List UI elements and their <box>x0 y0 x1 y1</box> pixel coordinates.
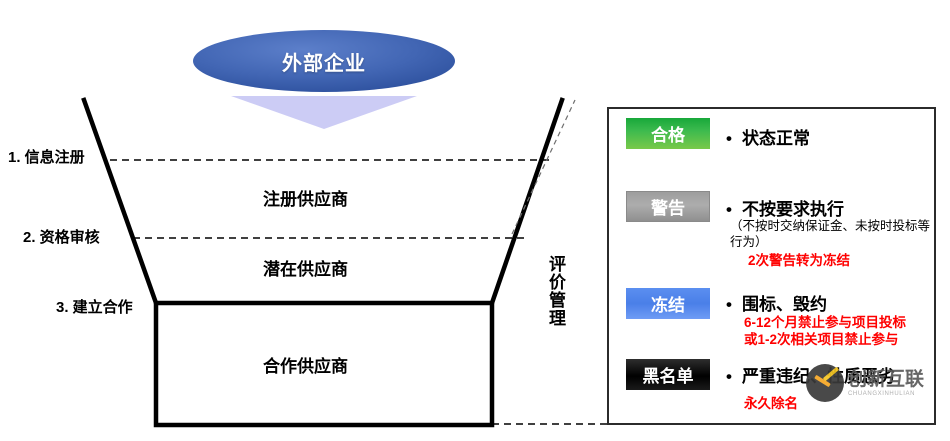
bullet-freeze: •围标、毁约 <box>726 290 827 315</box>
bullet-dot-icon: • <box>726 200 742 220</box>
bullet-text-pass: 状态正常 <box>742 129 810 148</box>
watermark-brand: 创新互联 <box>848 370 924 389</box>
watermark-text: 创新互联 CHUANGXINHULIAN <box>848 370 924 397</box>
bullet-dot-icon: • <box>726 295 742 315</box>
step-label-cooperation: 3. 建立合作 <box>56 296 133 317</box>
bullet-text-freeze: 围标、毁约 <box>742 295 827 314</box>
tier-label-registered-supplier: 注册供应商 <box>263 185 348 210</box>
evaluation-management-label: 评价管理 <box>542 255 564 327</box>
tier-label-potential-supplier: 潜在供应商 <box>263 255 348 280</box>
inflow-arrow-icon <box>231 96 417 129</box>
red-note-freeze-line2: 或1-2次相关项目禁止参与 <box>744 331 899 349</box>
evaluation-guide-line <box>512 100 575 234</box>
diagram-canvas: 外部企业 1. 信息注册 2. 资格审核 3. 建立合作 注册供应商 潜在供应商… <box>0 0 950 441</box>
status-box-freeze[interactable]: 冻结 <box>626 288 710 319</box>
tier-label-partner-supplier: 合作供应商 <box>263 352 348 377</box>
bullet-dot-icon: • <box>726 367 742 387</box>
status-box-pass[interactable]: 合格 <box>626 118 710 149</box>
funnel-left-edge <box>84 100 156 303</box>
watermark: 创新互联 CHUANGXINHULIAN <box>806 362 950 404</box>
step-label-registration: 1. 信息注册 <box>8 146 85 167</box>
watermark-logo-icon <box>806 364 844 402</box>
red-note-blacklist: 永久除名 <box>744 395 798 413</box>
status-box-warning[interactable]: 警告 <box>626 191 710 222</box>
external-enterprise-label: 外部企业 <box>196 31 452 91</box>
bullet-pass: •状态正常 <box>726 124 810 149</box>
watermark-subtitle: CHUANGXINHULIAN <box>848 391 924 397</box>
bullet-text-warning: 不按要求执行 <box>742 200 844 219</box>
step-label-qualification: 2. 资格审核 <box>23 226 100 247</box>
bullet-dot-icon: • <box>726 129 742 149</box>
bullet-warning: •不按要求执行 <box>726 195 844 220</box>
sub-note-warning: （不按时交纳保证金、未按时投标等行为） <box>730 219 930 250</box>
status-box-blacklist[interactable]: 黑名单 <box>626 359 710 390</box>
red-note-warning: 2次警告转为冻结 <box>748 252 850 270</box>
red-note-freeze-line1: 6-12个月禁止参与项目投标 <box>744 314 906 332</box>
